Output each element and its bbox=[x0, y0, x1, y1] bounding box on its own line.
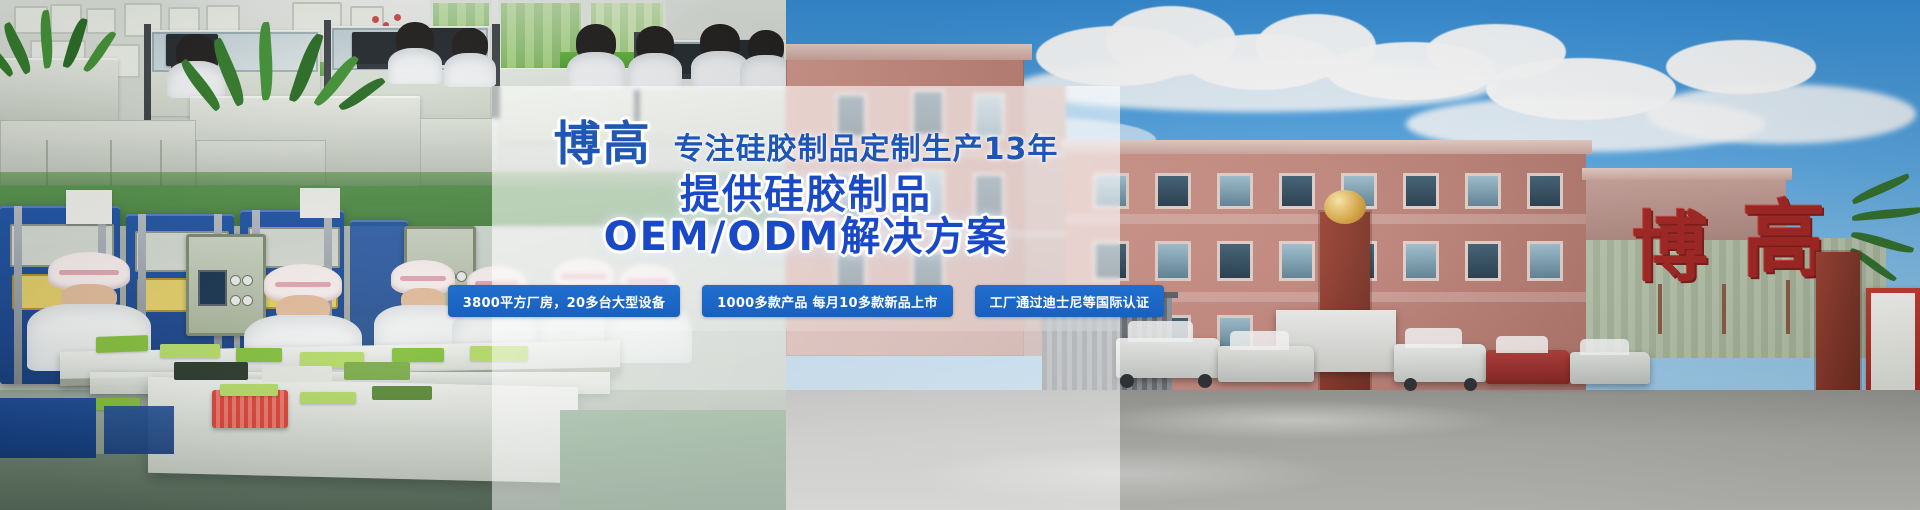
badge-factory-size[interactable]: 3800平方厂房，20多台大型设备 bbox=[448, 285, 680, 317]
claim-line-2: OEM/ODM解决方案 bbox=[492, 217, 1120, 257]
brand-name: 博高 bbox=[554, 121, 652, 168]
text-panel-lower bbox=[492, 331, 1120, 510]
brand-tagline: 专注硅胶制品定制生产13年 bbox=[674, 135, 1059, 168]
rooftop-sign-char-2: 高 bbox=[1742, 198, 1826, 282]
claim-line-1: 提供硅胶制品 bbox=[492, 175, 1120, 215]
claim-line-2-text: OEM/ODM解决方案 bbox=[604, 214, 1009, 260]
headline-row: 博高 专注硅胶制品定制生产13年 bbox=[492, 108, 1120, 168]
badge-certification[interactable]: 工厂通过迪士尼等国际认证 bbox=[975, 285, 1165, 317]
claim-line-1-text: 提供硅胶制品 bbox=[680, 172, 932, 218]
badge-product-count[interactable]: 1000多款产品 每月10多款新品上市 bbox=[702, 285, 953, 317]
feature-badges: 3800平方厂房，20多台大型设备 1000多款产品 每月10多款新品上市 工厂… bbox=[492, 284, 1120, 318]
promo-banner: 博 高 bbox=[0, 0, 1920, 510]
rooftop-sign-char-1: 博 bbox=[1632, 210, 1708, 286]
